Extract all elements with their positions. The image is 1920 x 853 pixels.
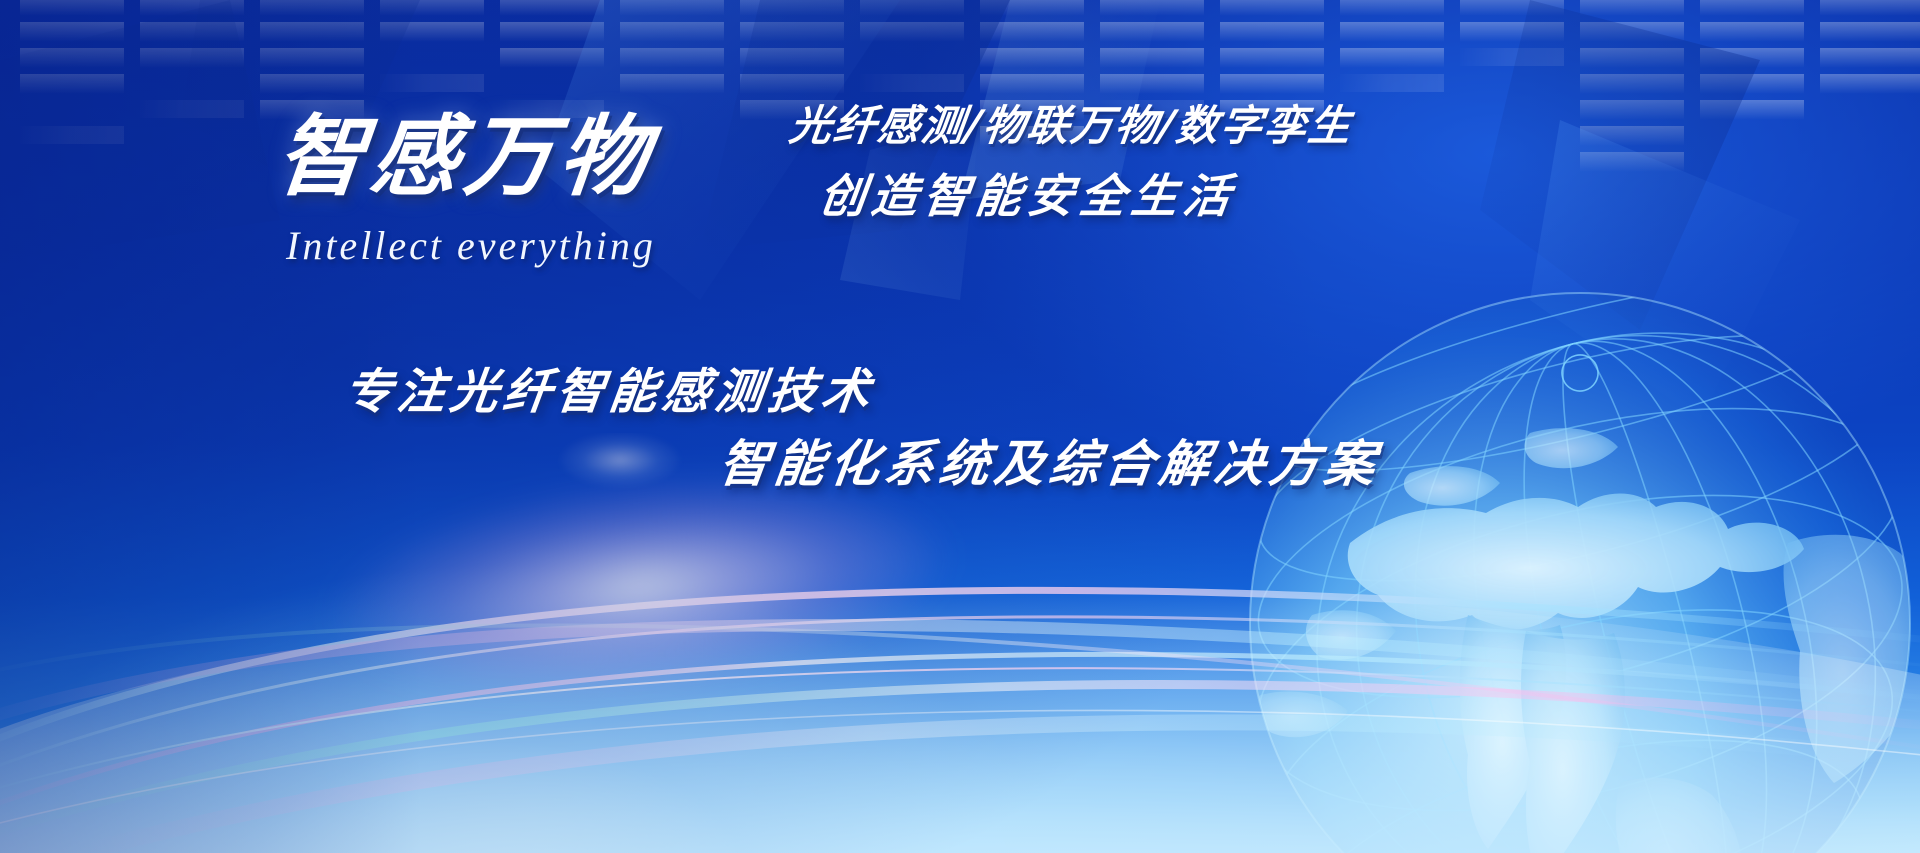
slogan-secondary: 创造智能安全生活 [816, 160, 1240, 226]
tagline-line-1: 专注光纤智能感测技术 [341, 352, 880, 422]
tagline-line-2: 智能化系统及综合解决方案 [716, 424, 1385, 496]
promo-banner: 智感万物 Intellect everything 光纤感测/物联万物/数字孪生… [0, 0, 1920, 853]
brand-title-en: Intellect everything [286, 222, 656, 269]
brand-title-cn: 智感万物 [271, 86, 660, 213]
slogan-primary: 光纤感测/物联万物/数字孪生 [786, 92, 1356, 153]
text-layer: 智感万物 Intellect everything 光纤感测/物联万物/数字孪生… [0, 0, 1920, 853]
